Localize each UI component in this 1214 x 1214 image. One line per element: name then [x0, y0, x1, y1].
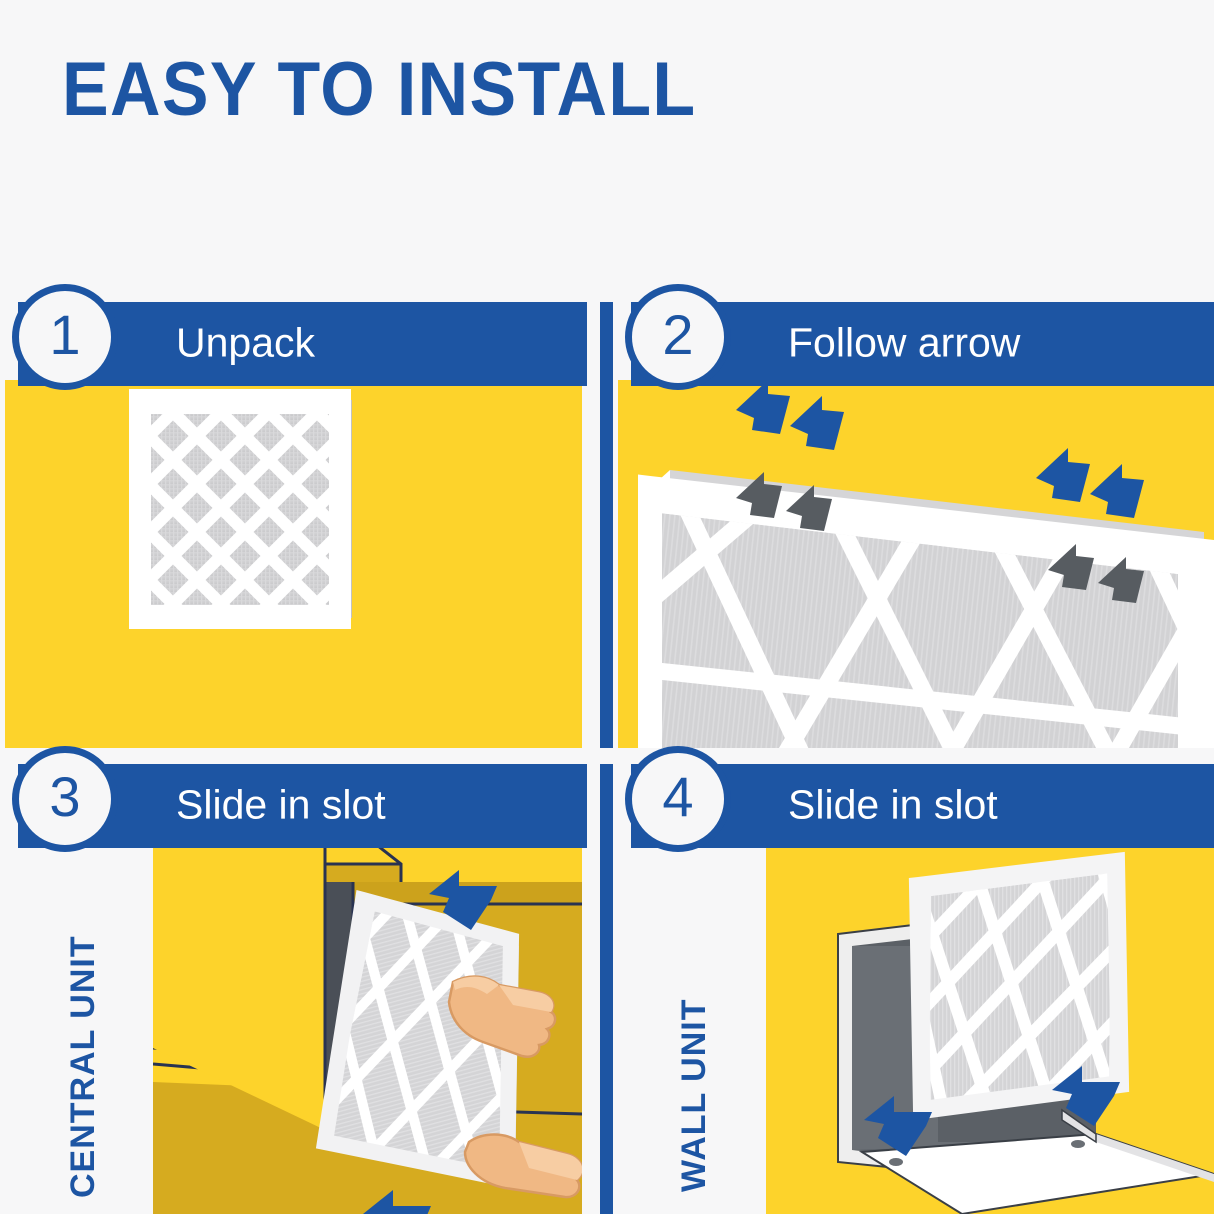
air-filter-front-view-illustration: [5, 380, 582, 748]
step-3-title: Slide in slot: [176, 782, 386, 829]
step-1-illustration-area: [5, 380, 582, 748]
step-3-number: 3: [49, 769, 80, 825]
unit-label-wall: WALL UNIT: [675, 999, 714, 1192]
column-divider-bottom: [600, 764, 613, 1214]
infographic-root: EASY TO INSTALL: [0, 0, 1214, 1214]
unit-label-central: CENTRAL UNIT: [64, 935, 103, 1198]
step-3-badge: 3: [12, 746, 118, 852]
step-2-number: 2: [662, 307, 693, 363]
central-unit-illustration: [153, 842, 582, 1214]
step-panel-2: Follow arrow 2: [613, 296, 1214, 748]
step-2-title: Follow arrow: [788, 320, 1020, 367]
step-2-illustration-area: [618, 380, 1214, 748]
step-2-badge: 2: [625, 284, 731, 390]
column-divider-top: [600, 302, 613, 748]
page-title: EASY TO INSTALL: [62, 52, 697, 128]
wall-unit-illustration: [766, 842, 1214, 1214]
step-1-number: 1: [49, 307, 80, 363]
step-3-illustration-area: [153, 842, 582, 1214]
step-1-title: Unpack: [176, 320, 315, 367]
step-1-badge: 1: [12, 284, 118, 390]
step-4-title: Slide in slot: [788, 782, 998, 829]
step-4-illustration-area: [766, 842, 1214, 1214]
step-panel-1: Unpack 1: [0, 296, 600, 748]
step-4-number: 4: [662, 769, 693, 825]
step-4-badge: 4: [625, 746, 731, 852]
blue-airflow-arrows: [618, 380, 1214, 748]
